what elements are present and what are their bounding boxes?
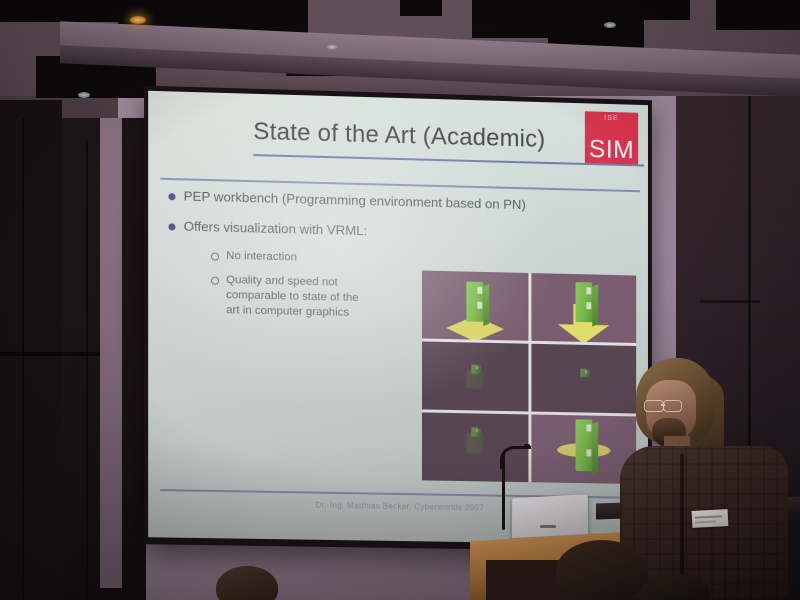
microphone-gooseneck-icon (500, 446, 531, 469)
bullet-text: PEP workbench (Programming environment b… (184, 188, 526, 213)
ceiling-downlight-icon (604, 22, 616, 28)
glasses-icon (644, 400, 664, 412)
bullet-item: PEP workbench (Programming environment b… (168, 188, 588, 215)
ceiling-coffer (400, 0, 442, 16)
laptop-logo-notch (540, 525, 556, 528)
slide-title: State of the Art (Academic) (148, 115, 648, 157)
figure-cell (531, 273, 636, 343)
left-panel-seam-a (22, 118, 24, 600)
ceiling-downlight-icon (130, 16, 146, 24)
figure-cell (422, 271, 528, 341)
sub-bullet-text: No interaction (226, 249, 297, 266)
microphone-head-icon (524, 444, 530, 449)
photo-scene: State of the Art (Academic) ISE SIM PEP … (0, 0, 800, 600)
left-wall-strip (100, 118, 122, 588)
glasses-bridge-icon (661, 404, 665, 406)
left-panel-seam-c (0, 352, 100, 356)
presentation-slide: State of the Art (Academic) ISE SIM PEP … (148, 91, 648, 545)
bullet-text: Offers visualization with VRML: (184, 218, 368, 239)
sub-bullet-item: No interaction (211, 248, 589, 272)
sub-bullet-item: Quality and speed not comparable to stat… (211, 273, 362, 322)
logo-top-text: ISE (585, 114, 638, 122)
sub-bullet-text: Quality and speed not comparable to stat… (226, 273, 362, 321)
bullet-dot-icon (168, 223, 175, 230)
ceiling-coffer (0, 0, 118, 22)
left-panel-seam-b (86, 140, 88, 600)
logo-main-text: SIM (589, 138, 634, 163)
ceiling-coffer (716, 0, 800, 30)
glasses-icon (663, 400, 682, 412)
figure-cell (422, 341, 528, 411)
audience-head (556, 540, 648, 600)
ceiling-coffer (548, 14, 644, 48)
ceiling-downlight-icon (78, 92, 90, 98)
bullet-dot-icon (168, 193, 175, 200)
ceiling-downlight-icon (326, 44, 338, 50)
left-dark-panel-outer (0, 100, 62, 600)
projection-screen: State of the Art (Academic) ISE SIM PEP … (144, 86, 652, 552)
bullet-item: Offers visualization with VRML: (168, 218, 588, 245)
sub-bullet-dot-icon (211, 253, 219, 261)
sim-logo: ISE SIM (585, 111, 638, 164)
right-panel-seam-horizontal (700, 300, 760, 303)
sub-bullet-dot-icon (211, 277, 219, 285)
